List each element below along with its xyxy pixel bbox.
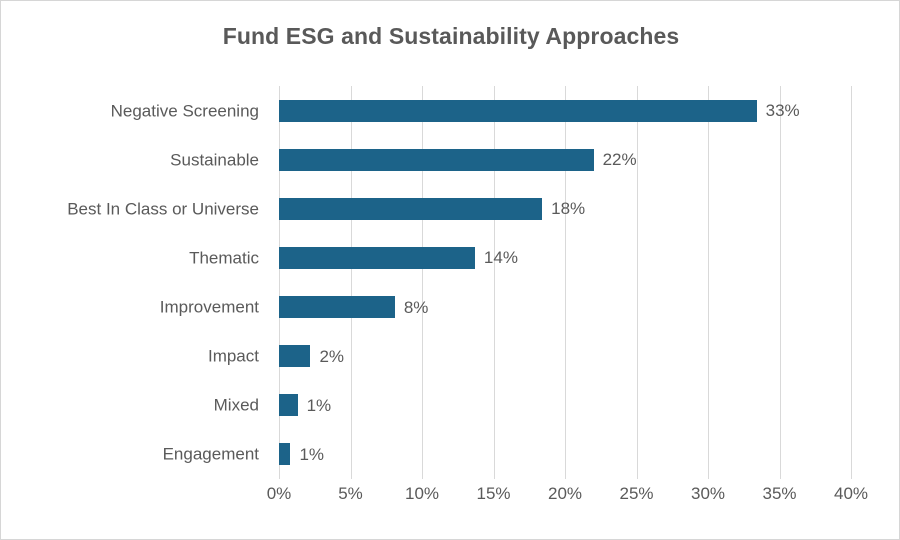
bar-row: 8%: [279, 283, 851, 332]
bar-value-label: 18%: [551, 200, 585, 217]
chart-title: Fund ESG and Sustainability Approaches: [1, 23, 900, 50]
bar-row: 18%: [279, 184, 851, 233]
bar-row: 33%: [279, 86, 851, 135]
bar-row: 22%: [279, 135, 851, 184]
x-tick-label: 20%: [548, 485, 582, 502]
bar-row: 2%: [279, 332, 851, 381]
bar[interactable]: [279, 100, 757, 122]
x-axis-tick-labels: 0%5%10%15%20%25%30%35%40%: [279, 485, 851, 515]
gridline: [851, 86, 852, 479]
x-tick-label: 0%: [267, 485, 292, 502]
bar-row: 14%: [279, 233, 851, 282]
x-tick-label: 40%: [834, 485, 868, 502]
bar[interactable]: [279, 443, 290, 465]
bar[interactable]: [279, 345, 310, 367]
bar-row: 1%: [279, 430, 851, 479]
category-label: Thematic: [1, 249, 259, 266]
bar[interactable]: [279, 198, 542, 220]
x-tick-label: 30%: [691, 485, 725, 502]
x-tick-label: 5%: [338, 485, 363, 502]
bar-value-label: 33%: [766, 102, 800, 119]
plot-area: 33%22%18%14%8%2%1%1%: [279, 86, 851, 479]
x-tick-label: 25%: [619, 485, 653, 502]
bar-value-label: 1%: [299, 446, 324, 463]
category-label: Mixed: [1, 397, 259, 414]
y-axis-category-labels: Negative ScreeningSustainableBest In Cla…: [1, 86, 259, 479]
x-tick-label: 15%: [476, 485, 510, 502]
bar-value-label: 8%: [404, 299, 429, 316]
bar[interactable]: [279, 149, 594, 171]
bar-value-label: 22%: [603, 151, 637, 168]
x-tick-label: 35%: [762, 485, 796, 502]
chart-container: Fund ESG and Sustainability Approaches N…: [0, 0, 900, 540]
category-label: Impact: [1, 348, 259, 365]
bar[interactable]: [279, 394, 298, 416]
bar-value-label: 2%: [319, 348, 344, 365]
category-label: Negative Screening: [1, 102, 259, 119]
x-tick-label: 10%: [405, 485, 439, 502]
category-label: Improvement: [1, 299, 259, 316]
bar[interactable]: [279, 296, 395, 318]
category-label: Sustainable: [1, 151, 259, 168]
bar-row: 1%: [279, 381, 851, 430]
category-label: Best In Class or Universe: [1, 200, 259, 217]
bar-value-label: 14%: [484, 249, 518, 266]
bar[interactable]: [279, 247, 475, 269]
category-label: Engagement: [1, 446, 259, 463]
bar-value-label: 1%: [307, 397, 332, 414]
